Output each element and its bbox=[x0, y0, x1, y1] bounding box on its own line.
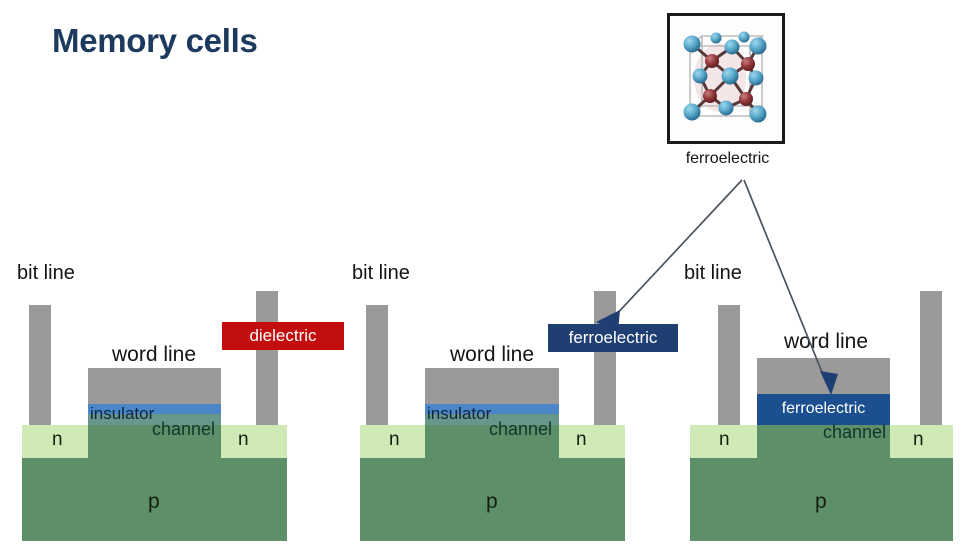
n-source-label: n bbox=[389, 429, 400, 451]
bit-line-label: bit line bbox=[684, 262, 742, 285]
crystal-caption: ferroelectric bbox=[640, 150, 815, 168]
slide-canvas: Memory cells bbox=[0, 0, 977, 549]
crystal-lattice-icon bbox=[667, 13, 785, 144]
bit-line-right[interactable] bbox=[594, 291, 616, 425]
word-line-gate[interactable] bbox=[425, 368, 559, 404]
word-line-gate[interactable] bbox=[757, 358, 890, 394]
word-line-gate[interactable] bbox=[88, 368, 221, 404]
ferroelectric-callout-label: ferroelectric bbox=[569, 328, 658, 348]
ferroelectric-callout-chip[interactable]: ferroelectric bbox=[548, 324, 678, 352]
bit-line-label: bit line bbox=[352, 262, 410, 285]
n-drain-label: n bbox=[238, 429, 249, 451]
page-title: Memory cells bbox=[52, 22, 258, 60]
n-drain-label: n bbox=[576, 429, 587, 451]
p-substrate-label: p bbox=[486, 490, 498, 514]
channel-label: channel bbox=[823, 422, 886, 443]
bit-line-right[interactable] bbox=[256, 291, 278, 425]
bit-line-label: bit line bbox=[17, 262, 75, 285]
channel-label: channel bbox=[152, 419, 215, 440]
bit-line-left[interactable] bbox=[366, 305, 388, 425]
word-line-label: word line bbox=[450, 343, 534, 367]
bit-line-left[interactable] bbox=[718, 305, 740, 425]
dielectric-callout-label: dielectric bbox=[249, 326, 316, 346]
ferroelectric-gate-block[interactable]: ferroelectric bbox=[757, 393, 890, 425]
ferroelectric-gate-label: ferroelectric bbox=[757, 400, 890, 418]
insulator-label: insulator bbox=[90, 404, 154, 424]
bit-line-right[interactable] bbox=[920, 291, 942, 425]
insulator-label: insulator bbox=[427, 404, 491, 424]
word-line-label: word line bbox=[112, 343, 196, 367]
p-substrate-label: p bbox=[148, 490, 160, 514]
n-source-label: n bbox=[719, 429, 730, 451]
n-drain-label: n bbox=[913, 429, 924, 451]
word-line-label: word line bbox=[784, 330, 868, 354]
bit-line-left[interactable] bbox=[29, 305, 51, 425]
channel-label: channel bbox=[489, 419, 552, 440]
dielectric-callout-chip[interactable]: dielectric bbox=[222, 322, 344, 350]
n-source-label: n bbox=[52, 429, 63, 451]
p-substrate-label: p bbox=[815, 490, 827, 514]
